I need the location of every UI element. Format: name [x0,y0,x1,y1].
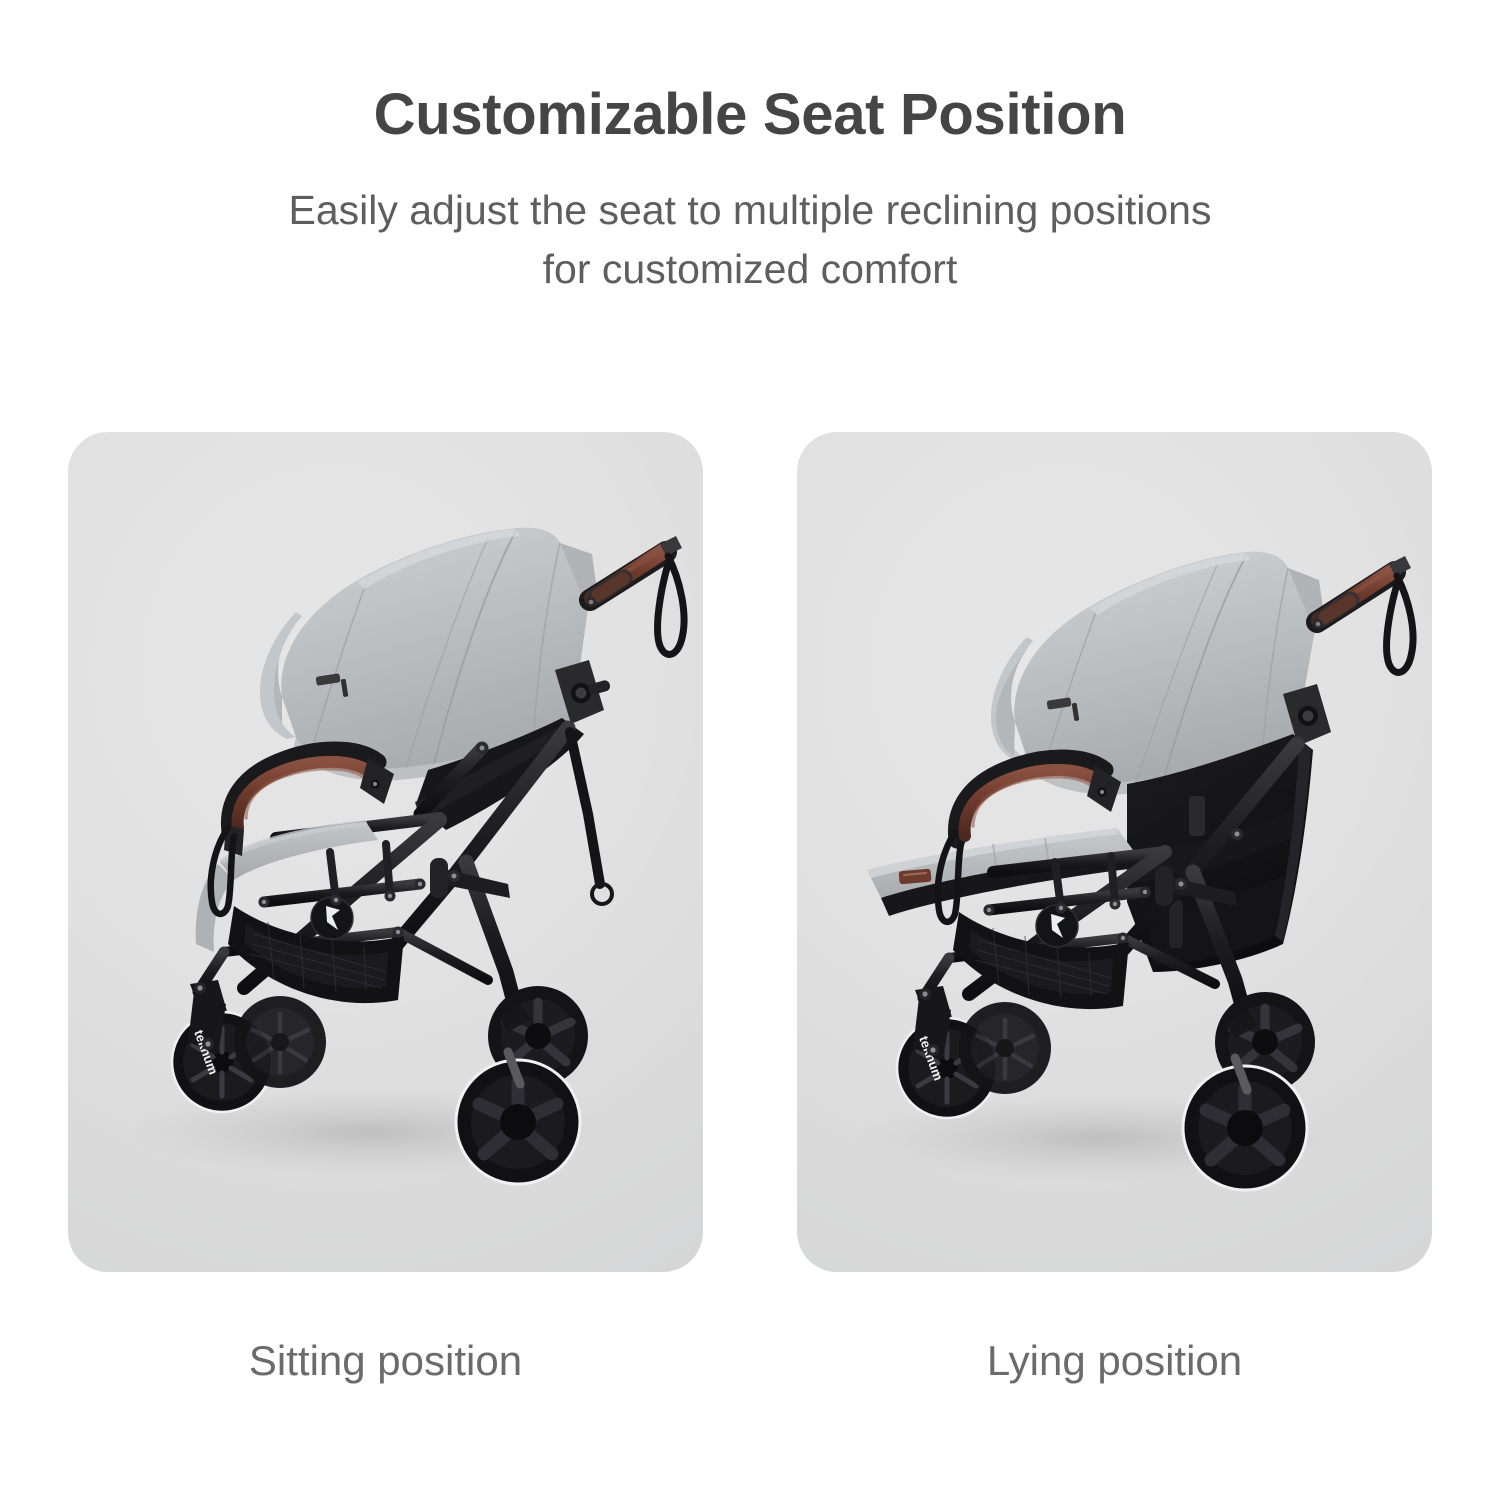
subtitle-line-2: for customized comfort [0,240,1500,298]
front-wheel-rear-pair [234,996,326,1088]
panel-sitting-position: teknum [68,432,703,1272]
rear-strap [570,732,612,904]
front-wheel-rear-pair [959,1002,1051,1094]
handlebar [586,536,684,654]
caption-sitting-position: Sitting position [68,1336,703,1426]
handlebar [1313,556,1413,672]
product-feature-page: Customizable Seat Position Easily adjust… [0,0,1500,1500]
page-subtitle: Easily adjust the seat to multiple recli… [0,145,1500,297]
page-title: Customizable Seat Position [0,0,1500,145]
caption-row: Sitting position Lying position [68,1336,1432,1426]
stroller-image-lying: teknum [797,432,1432,1272]
panel-lying-position: teknum [797,432,1432,1272]
stroller-image-sitting: teknum [68,432,703,1272]
header: Customizable Seat Position Easily adjust… [0,0,1500,298]
caption-lying-position: Lying position [797,1336,1432,1426]
panel-row: teknum [68,432,1432,1272]
subtitle-line-1: Easily adjust the seat to multiple recli… [0,181,1500,239]
